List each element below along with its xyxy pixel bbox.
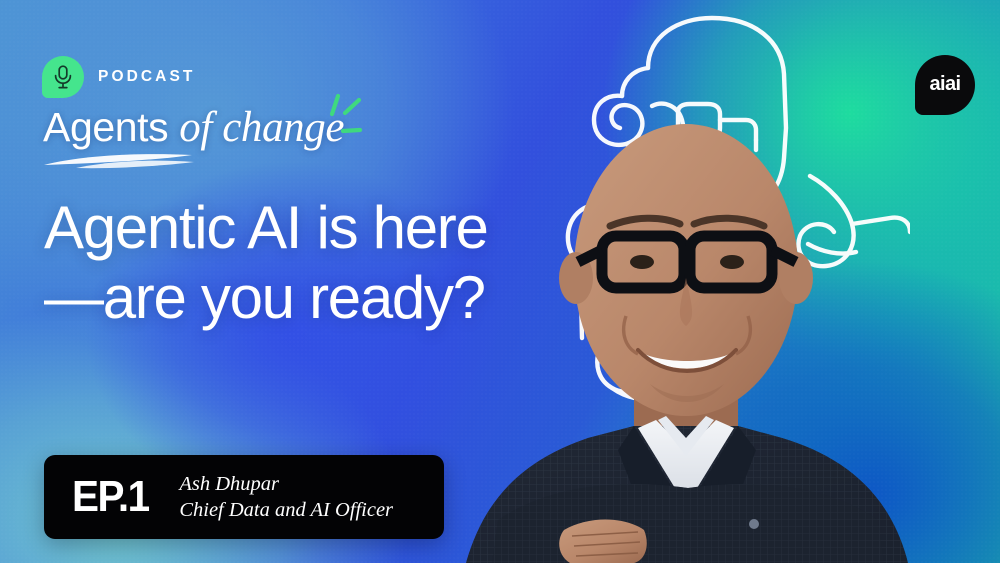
- guest-portrait-photo: [438, 120, 1000, 563]
- sparkle-accent-icon: [312, 92, 368, 146]
- page-title: Agentic AI is here—are you ready?: [44, 193, 514, 333]
- microphone-icon: [53, 65, 73, 89]
- episode-number: EP.1: [72, 475, 149, 519]
- guest-info: Ash Dhupar Chief Data and AI Officer: [179, 471, 393, 523]
- wordmark-underline-swoosh-icon: [42, 148, 197, 170]
- brand-logo-text: aiai: [930, 74, 961, 94]
- episode-badge: EP.1 Ash Dhupar Chief Data and AI Office…: [44, 455, 444, 539]
- show-wordmark: Agents of change: [43, 103, 344, 152]
- guest-title: Chief Data and AI Officer: [179, 497, 393, 523]
- podcast-label: PODCAST: [98, 68, 195, 86]
- podcast-badge-bubble: [42, 56, 84, 98]
- guest-name: Ash Dhupar: [179, 471, 393, 497]
- podcast-episode-cover: PODCAST Agents of change Agentic AI is h…: [0, 0, 1000, 563]
- brand-logo: aiai: [915, 55, 975, 115]
- wordmark-regular: Agents: [43, 104, 168, 150]
- podcast-badge: PODCAST: [42, 56, 195, 98]
